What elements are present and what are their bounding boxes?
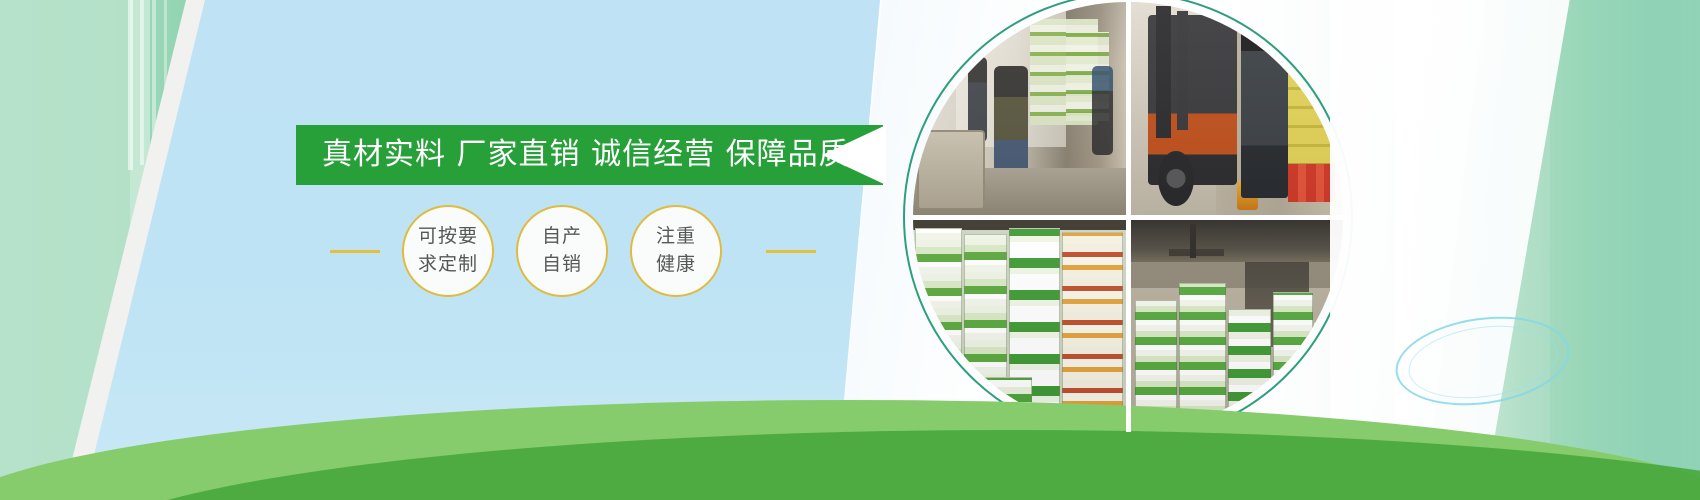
forklift-mast-left (1156, 6, 1171, 138)
badge-line-1: 自产 (542, 223, 582, 251)
badge-line-1: 注重 (656, 223, 696, 251)
feature-badge-custom-order[interactable]: 可按要 求定制 (402, 205, 494, 297)
badge-line-2: 自销 (542, 251, 582, 279)
photo-loading-truck-with-cartons (913, 2, 1126, 215)
warehouse-roof (1131, 220, 1344, 263)
background-highlight-a (128, 0, 133, 170)
photo-warehouse-stacked-goods (1131, 220, 1344, 433)
forklift-wheel (1158, 151, 1194, 206)
red-box-stack (1288, 164, 1335, 202)
pallet-crate (917, 130, 985, 211)
background-highlight-b (140, 0, 144, 165)
decorative-rule-left (330, 250, 380, 253)
slogan-text: 真材实料 厂家直销 诚信经营 保障品质 (296, 140, 850, 170)
collage-divider-horizontal (913, 215, 1343, 220)
worker-c (1092, 66, 1113, 155)
badge-line-2: 求定制 (418, 251, 478, 279)
feature-badge-row: 可按要 求定制 自产 自销 注重 健康 (330, 203, 875, 299)
carton-column-4 (1062, 232, 1124, 415)
forklift-mast-right (1177, 11, 1188, 130)
photo-forklift-and-worker (1131, 2, 1344, 215)
decorative-rule-right (766, 250, 816, 253)
ceiling-rail (1169, 249, 1224, 255)
promotional-banner: 真材实料 厂家直销 诚信经营 保障品质 可按要 求定制 自产 自销 注重 健康 (0, 0, 1700, 500)
feature-badge-health-focus[interactable]: 注重 健康 (630, 205, 722, 297)
badge-line-1: 可按要 (418, 223, 478, 251)
goods-column-4 (1273, 292, 1313, 432)
badge-line-2: 健康 (656, 251, 696, 279)
feature-badge-self-production[interactable]: 自产 自销 (516, 205, 608, 297)
worker-in-dark-jacket (1241, 23, 1288, 197)
ceiling-hook (1190, 224, 1196, 258)
slogan-ribbon: 真材实料 厂家直销 诚信经营 保障品质 (296, 125, 883, 185)
